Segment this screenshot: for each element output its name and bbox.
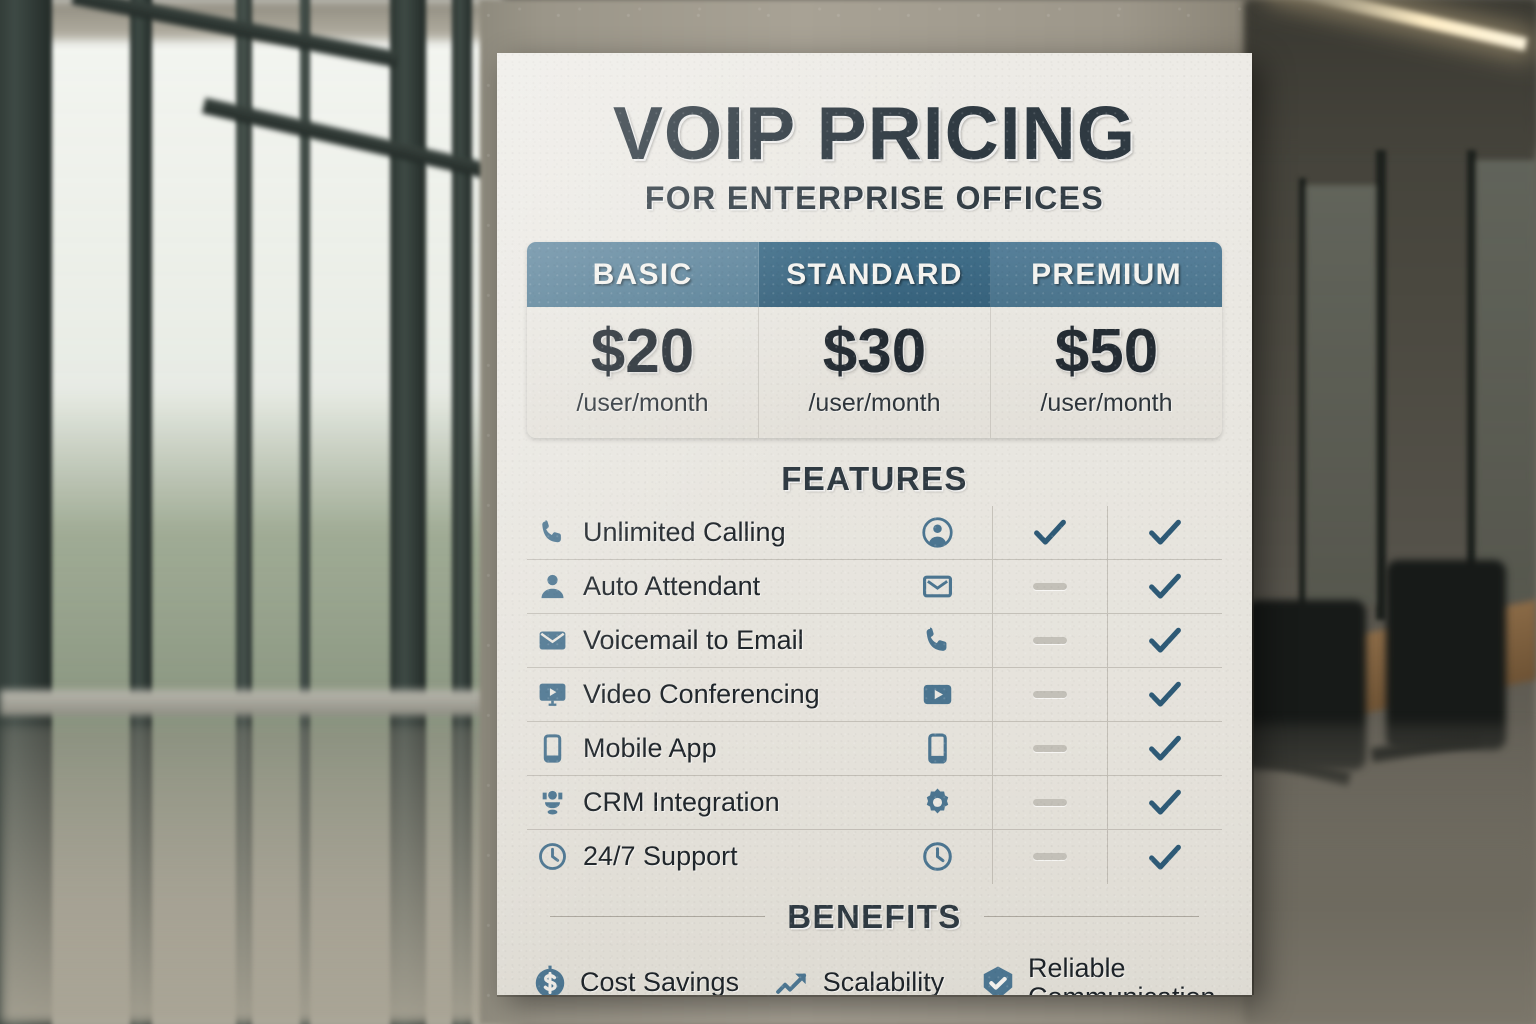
phone-icon: [527, 517, 577, 548]
check-icon: [1030, 512, 1070, 552]
feature-cell-standard: [992, 722, 1107, 775]
envelope-box-icon: [921, 570, 954, 603]
clock-icon: [527, 841, 577, 872]
feature-label: Unlimited Calling: [577, 517, 882, 548]
table-row: CRM Integration: [527, 776, 1222, 830]
feature-cell-premium: [1107, 506, 1222, 559]
benefit-label: Scalability: [823, 968, 945, 995]
trending-up-icon: [774, 964, 812, 995]
feature-cell-premium: [1107, 614, 1222, 667]
benefits-row: Cost SavingsScalabilityReliable Communic…: [527, 954, 1222, 996]
ceiling-right: [1246, 0, 1536, 150]
clock-icon: [921, 840, 954, 873]
dash-icon: [1033, 691, 1067, 698]
plans-price-row: $20 /user/month $30 /user/month $50 /use…: [527, 307, 1222, 438]
feature-label: 24/7 Support: [577, 841, 882, 872]
plan-period-basic: /user/month: [527, 389, 758, 418]
floor-right: [1246, 724, 1536, 1024]
page-subtitle: FOR ENTERPRISE OFFICES: [527, 180, 1222, 217]
glass-partition-frame: [1299, 178, 1306, 608]
video-screen-icon: [527, 679, 577, 710]
users-group-icon: [527, 787, 577, 818]
dollar-circle-icon: [531, 964, 569, 995]
table-row: 24/7 Support: [527, 830, 1222, 884]
user-circle-icon: [921, 516, 954, 549]
glass-partition-frame: [1376, 150, 1386, 620]
dash-icon: [1033, 637, 1067, 644]
benefits-heading-label: BENEFITS: [787, 898, 961, 936]
benefits-heading: BENEFITS: [527, 898, 1222, 936]
table-row: Voicemail to Email: [527, 614, 1222, 668]
feature-cell-premium: [1107, 722, 1222, 775]
check-icon: [1145, 512, 1185, 552]
plan-header-standard[interactable]: STANDARD: [759, 242, 991, 307]
plan-price-premium: $50: [991, 321, 1222, 383]
check-icon: [1145, 674, 1185, 714]
benefit-label: Cost Savings: [580, 968, 739, 995]
check-icon: [1145, 837, 1185, 877]
feature-cell-standard: [992, 776, 1107, 829]
list-item: Cost Savings: [531, 964, 739, 995]
glass-partition-frame: [1467, 150, 1476, 620]
feature-cell-basic: [882, 722, 992, 775]
window-sill: [0, 690, 500, 716]
plan-period-premium: /user/month: [991, 389, 1222, 418]
feature-label: Auto Attendant: [577, 571, 882, 602]
check-icon: [1145, 566, 1185, 606]
feature-cell-standard: [992, 614, 1107, 667]
check-icon: [1145, 782, 1185, 822]
check-icon: [1145, 620, 1185, 660]
dash-icon: [1033, 745, 1067, 752]
dash-icon: [1033, 583, 1067, 590]
table-row: Auto Attendant: [527, 560, 1222, 614]
floor-left: [0, 724, 520, 1024]
play-box-icon: [921, 678, 954, 711]
feature-label: Voicemail to Email: [577, 625, 882, 656]
gear-icon: [921, 786, 954, 819]
mobile-icon: [527, 733, 577, 764]
plan-header-premium[interactable]: PREMIUM: [991, 242, 1222, 307]
plans-header-row: BASIC STANDARD PREMIUM: [527, 242, 1222, 307]
feature-cell-basic: [882, 506, 992, 559]
user-icon: [527, 571, 577, 602]
feature-cell-premium: [1107, 776, 1222, 829]
feature-label: Mobile App: [577, 733, 882, 764]
glass-partition: [1476, 160, 1536, 600]
feature-cell-basic: [882, 668, 992, 721]
phone-icon: [921, 624, 954, 657]
table-row: Video Conferencing: [527, 668, 1222, 722]
features-heading: FEATURES: [527, 460, 1222, 498]
feature-label: CRM Integration: [577, 787, 882, 818]
plan-price-cell-standard: $30 /user/month: [759, 307, 991, 438]
dash-icon: [1033, 853, 1067, 860]
plan-header-basic[interactable]: BASIC: [527, 242, 759, 307]
mobile-icon: [921, 732, 954, 765]
feature-cell-premium: [1107, 668, 1222, 721]
table-row: Unlimited Calling: [527, 506, 1222, 560]
list-item: Scalability: [774, 964, 945, 995]
feature-cell-standard: [992, 506, 1107, 559]
feature-cell-basic: [882, 614, 992, 667]
feature-cell-premium: [1107, 830, 1222, 884]
table-row: Mobile App: [527, 722, 1222, 776]
feature-cell-basic: [882, 560, 992, 613]
feature-cell-standard: [992, 668, 1107, 721]
list-item: Reliable Communication: [979, 954, 1218, 996]
plan-price-cell-premium: $50 /user/month: [991, 307, 1222, 438]
plan-period-standard: /user/month: [759, 389, 990, 418]
shield-check-icon: [979, 964, 1017, 995]
glass-partition: [1306, 185, 1376, 605]
plans-table: BASIC STANDARD PREMIUM $20 /user/month $…: [527, 242, 1222, 438]
office-chair: [1386, 560, 1506, 750]
dash-icon: [1033, 799, 1067, 806]
check-icon: [1145, 728, 1185, 768]
plan-price-standard: $30: [759, 321, 990, 383]
feature-label: Video Conferencing: [577, 679, 882, 710]
plan-price-basic: $20: [527, 321, 758, 383]
feature-cell-premium: [1107, 560, 1222, 613]
page-title: VOIP PRICING: [527, 95, 1222, 172]
benefit-label: Reliable Communication: [1028, 954, 1218, 996]
features-table: Unlimited CallingAuto AttendantVoicemail…: [527, 506, 1222, 884]
envelope-icon: [527, 625, 577, 656]
feature-cell-standard: [992, 830, 1107, 884]
feature-cell-standard: [992, 560, 1107, 613]
plan-price-cell-basic: $20 /user/month: [527, 307, 759, 438]
feature-cell-basic: [882, 830, 992, 884]
feature-cell-basic: [882, 776, 992, 829]
pricing-sign-board: VOIP PRICING FOR ENTERPRISE OFFICES BASI…: [497, 53, 1252, 995]
